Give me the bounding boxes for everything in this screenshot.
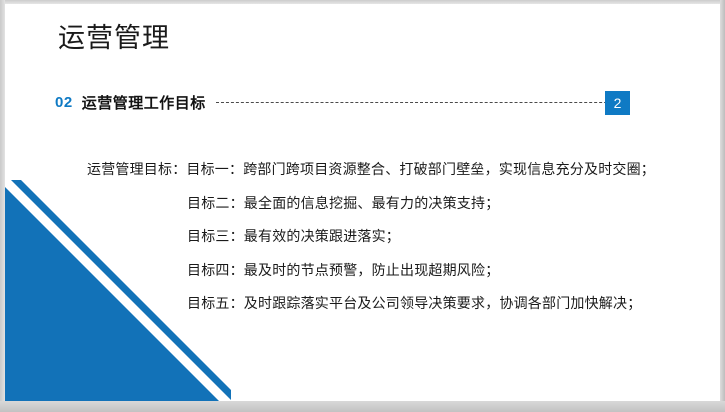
body-line: 目标四：最及时的节点预警，防止出现超期风险；: [5, 260, 720, 294]
body-line: 目标五：及时跟踪落实平台及公司领导决策要求，协调各部门加快解决；: [5, 293, 720, 327]
body-line: 目标三：最有效的决策跟进落实；: [5, 226, 720, 260]
frame-edge-right: [720, 0, 725, 412]
frame-edge-left: [0, 0, 5, 412]
section-header: 02 运营管理工作目标: [55, 90, 635, 114]
body-line: 目标二：最全面的信息挖掘、最有力的决策支持；: [5, 193, 720, 227]
section-number: 02: [55, 94, 73, 111]
page-title: 运营管理: [58, 21, 170, 55]
frame-edge-bottom: [0, 401, 725, 412]
body-content: 运营管理目标：目标一：跨部门跨项目资源整合、打破部门壁垒，实现信息充分及时交圈；…: [5, 159, 720, 327]
body-line: 运营管理目标：目标一：跨部门跨项目资源整合、打破部门壁垒，实现信息充分及时交圈；: [5, 159, 720, 193]
slide-canvas: 运营管理 02 运营管理工作目标 2 运营管理目标：目标一：跨部门跨项目资源整合…: [5, 4, 720, 401]
page-number-badge: 2: [605, 91, 630, 115]
frame-edge-top: [0, 0, 725, 4]
slide-viewer: 运营管理 02 运营管理工作目标 2 运营管理目标：目标一：跨部门跨项目资源整合…: [0, 0, 725, 412]
dashed-leader-line: [216, 102, 627, 103]
section-title: 运营管理工作目标: [82, 92, 206, 113]
